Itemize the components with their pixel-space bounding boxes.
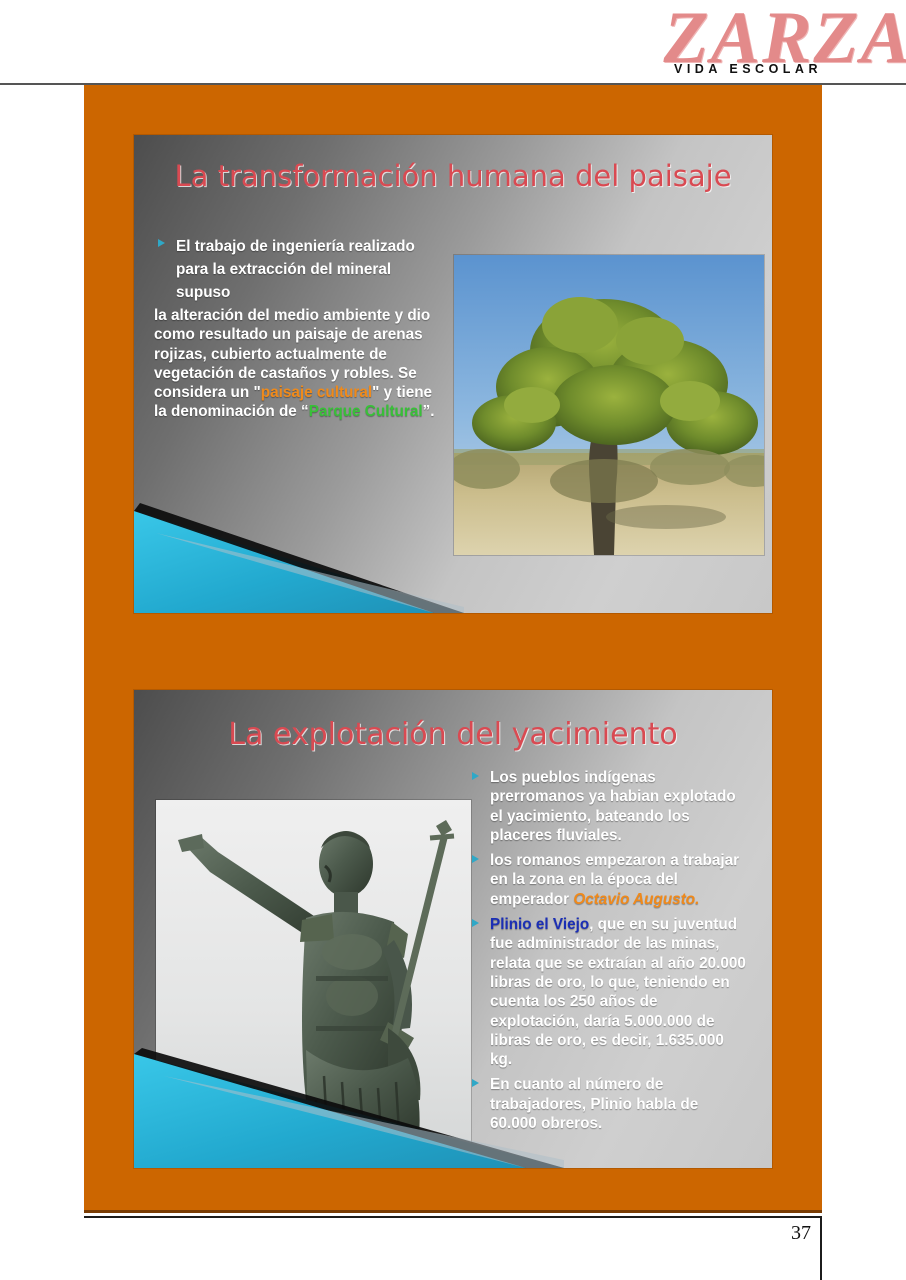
bullet-triangle-icon (472, 855, 479, 863)
bullet-triangle-icon (158, 239, 165, 247)
slide-1-corner-ribbon (134, 503, 464, 613)
brand-tagline: VIDA ESCOLAR (674, 62, 822, 76)
slide-2-body: Los pueblos indígenas prerromanos ya hab… (468, 768, 748, 1133)
slide-1-paragraph-1-text: El trabajo de ingeniería realizado para … (176, 238, 415, 301)
slide-2-bullet-3-text: , que en su juventud fue administrador d… (490, 916, 746, 1068)
slide-1-p2-highlight-paisaje-cultural: paisaje cultural (261, 384, 372, 401)
footer-vertical-rule (820, 1216, 822, 1280)
slide-2-highlight-plinio-el-viejo: Plinio el Viejo (490, 916, 589, 933)
footer-divider (84, 1216, 822, 1218)
tree-photo (454, 255, 764, 555)
slide-1-paragraph-1: El trabajo de ingeniería realizado para … (154, 235, 439, 304)
bullet-triangle-icon (472, 919, 479, 927)
slide-2-highlight-octavio-augusto: Octavio Augusto. (573, 891, 699, 908)
page-panel: La transformación humana del paisaje (84, 85, 822, 1213)
slide-2-bullet-3: Plinio el Viejo, que en su juventud fue … (468, 915, 748, 1069)
slide-transformacion-humana[interactable]: La transformación humana del paisaje (134, 135, 772, 613)
slide-1-body: El trabajo de ingeniería realizado para … (154, 235, 439, 422)
slide-1-title: La transformación humana del paisaje (134, 157, 772, 195)
slide-explotacion-yacimiento[interactable]: La explotación del yacimiento (134, 690, 772, 1168)
slide-1-p2-highlight-parque-cultural: Parque Cultural (309, 403, 423, 420)
slide-2-bullet-4: En cuanto al número de trabajadores, Pli… (468, 1075, 748, 1133)
augustus-statue-photo (156, 800, 471, 1148)
slide-2-bullet-4-text: En cuanto al número de trabajadores, Pli… (490, 1076, 698, 1132)
masthead: ZARZA VIDA ESCOLAR (0, 0, 906, 84)
slide-2-title: La explotación del yacimiento (134, 716, 772, 754)
bullet-triangle-icon (472, 1079, 479, 1087)
slide-2-bullet-1: Los pueblos indígenas prerromanos ya hab… (468, 768, 748, 845)
slide-2-bullet-2: los romanos empezaron a trabajar en la z… (468, 851, 748, 909)
slide-1-paragraph-2: la alteración del medio ambiente y dio c… (154, 306, 439, 422)
slide-2-bullet-1-text: Los pueblos indígenas prerromanos ya hab… (490, 769, 736, 844)
bullet-triangle-icon (472, 772, 479, 780)
page-number: 37 (786, 1222, 816, 1245)
slide-1-p2-part-plain-c: ”. (423, 403, 435, 420)
